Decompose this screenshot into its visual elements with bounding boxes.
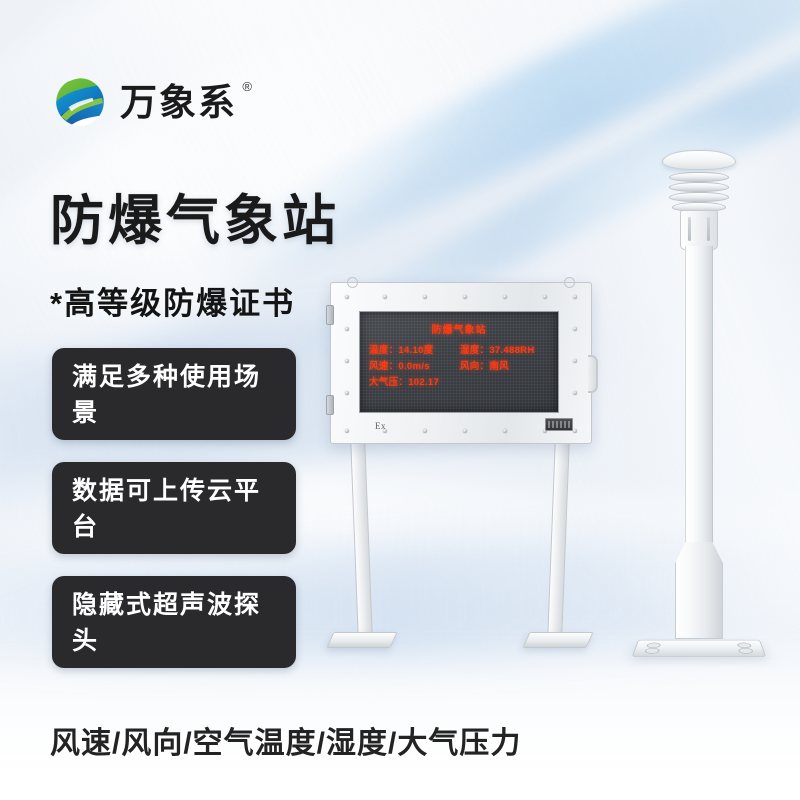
bolt-icon bbox=[503, 295, 507, 299]
led-row: 温度：14.10度 湿度：37.488RH bbox=[369, 343, 549, 359]
base-mounting-plate-icon bbox=[632, 640, 767, 657]
stand-leg-right bbox=[547, 440, 570, 638]
bolt-icon bbox=[543, 295, 547, 299]
stand-leg-left bbox=[350, 440, 373, 638]
hinge-icon bbox=[326, 305, 334, 325]
lifting-eye-icon bbox=[347, 277, 358, 288]
bolt-icon bbox=[503, 429, 507, 433]
registered-trademark-icon: ® bbox=[242, 80, 254, 93]
base-bolt-hole-icon bbox=[738, 648, 754, 654]
bolt-icon bbox=[573, 359, 577, 363]
radiation-shield-icon bbox=[669, 182, 729, 192]
base-bolt-hole-icon bbox=[644, 648, 660, 654]
page-title: 防爆气象站 bbox=[50, 192, 340, 251]
bolt-icon bbox=[345, 295, 349, 299]
feature-pill-1: 满足多种使用场景 bbox=[52, 348, 296, 440]
led-reading-empty bbox=[460, 375, 549, 391]
page-subtitle: *高等级防爆证书 bbox=[50, 278, 295, 323]
bolt-icon bbox=[345, 391, 349, 395]
led-reading-wind-direction: 风向：南风 bbox=[460, 359, 549, 375]
feature-pill-3: 隐藏式超声波探头 bbox=[52, 576, 296, 668]
bolt-icon bbox=[573, 391, 577, 395]
sensor-top-cap-icon bbox=[662, 150, 736, 170]
ultrasonic-sensor-mast bbox=[628, 150, 768, 670]
led-reading-temperature: 温度：14.10度 bbox=[369, 343, 460, 359]
bolt-icon bbox=[573, 327, 577, 331]
led-reading-pressure: 大气压：102.17 bbox=[369, 375, 460, 391]
hinge-icon bbox=[326, 395, 334, 415]
nameplate-label bbox=[545, 418, 573, 431]
bolt-icon bbox=[463, 295, 467, 299]
product-poster: 万象系 ® 防爆气象站 *高等级防爆证书 满足多种使用场景 数据可上传云平台 隐… bbox=[0, 0, 800, 800]
bolt-icon bbox=[423, 295, 427, 299]
brand-name-text: 万象系 bbox=[120, 82, 237, 123]
led-reading-humidity: 湿度：37.488RH bbox=[460, 343, 549, 359]
stand-foot-left bbox=[326, 632, 397, 648]
bolt-icon bbox=[463, 429, 467, 433]
mast-pole bbox=[685, 246, 713, 546]
ultrasonic-weather-sensor-icon bbox=[680, 210, 718, 250]
led-row: 风速：0.0m/s 风向：南风 bbox=[369, 359, 549, 375]
explosion-proof-display-unit: 防爆气象站 温度：14.10度 湿度：37.488RH 风速：0.0m/s 风向… bbox=[330, 282, 590, 672]
radiation-shield-icon bbox=[669, 172, 729, 182]
bolt-icon bbox=[573, 429, 577, 433]
globe-swirl-logo-icon bbox=[54, 76, 106, 128]
led-screen: 防爆气象站 温度：14.10度 湿度：37.488RH 风速：0.0m/s 风向… bbox=[359, 311, 559, 413]
feature-pill-2: 数据可上传云平台 bbox=[52, 462, 296, 554]
mast-flare bbox=[675, 542, 723, 639]
led-readings: 温度：14.10度 湿度：37.488RH 风速：0.0m/s 风向：南风 大气… bbox=[360, 343, 558, 391]
led-screen-title: 防爆气象站 bbox=[360, 321, 558, 336]
bolt-icon bbox=[423, 429, 427, 433]
ex-certification-marking: Ex bbox=[375, 421, 386, 431]
bolt-icon bbox=[345, 359, 349, 363]
led-reading-wind-speed: 风速：0.0m/s bbox=[369, 359, 460, 375]
lifting-eye-icon bbox=[564, 277, 575, 288]
door-handle-icon[interactable] bbox=[588, 355, 598, 393]
feature-list: 满足多种使用场景 数据可上传云平台 隐藏式超声波探头 bbox=[52, 348, 296, 668]
brand-logo: 万象系 ® bbox=[54, 76, 237, 128]
stand-foot-right bbox=[522, 632, 593, 648]
radiation-shield-icon bbox=[669, 192, 729, 202]
led-row: 大气压：102.17 bbox=[369, 375, 549, 391]
display-cabinet: 防爆气象站 温度：14.10度 湿度：37.488RH 风速：0.0m/s 风向… bbox=[330, 282, 592, 444]
bolt-icon bbox=[345, 327, 349, 331]
brand-name: 万象系 ® bbox=[120, 84, 237, 121]
bolt-icon bbox=[383, 295, 387, 299]
bolt-icon bbox=[345, 429, 349, 433]
bolt-icon bbox=[573, 295, 577, 299]
feature-caption: 风速/风向/空气温度/湿度/大气压力 bbox=[50, 718, 521, 762]
